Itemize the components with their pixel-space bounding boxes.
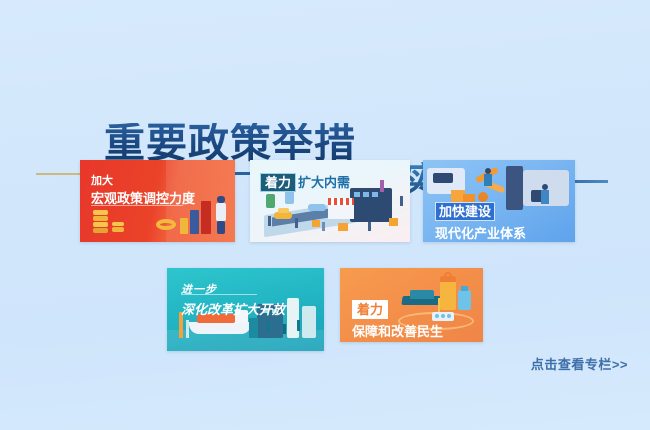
card-peoples-livelihood-line2: 保障和改善民生 xyxy=(352,324,443,339)
card-macro-policy-text: 加大 宏观政策调控力度 xyxy=(91,171,195,209)
card-macro-policy[interactable]: 加大 宏观政策调控力度 xyxy=(80,160,235,242)
card-macro-policy-line1: 加大 xyxy=(91,175,113,187)
card-reform-opening-line2: 深化改革扩大开放 xyxy=(181,302,285,317)
card-expand-demand[interactable]: 着力扩大内需 xyxy=(250,160,410,242)
page-title-line1: 重要政策举措 xyxy=(104,123,356,164)
card-peoples-livelihood-text: 着力 保障和改善民生 xyxy=(352,300,443,342)
card-expand-demand-line1: 着力 xyxy=(260,173,296,192)
card-modern-industry-line1: 加快建设 xyxy=(435,202,495,221)
card-reform-opening-text: 进一步 深化改革扩大开放 xyxy=(181,280,285,320)
card-modern-industry[interactable]: 加快建设 现代化产业体系 xyxy=(423,160,575,242)
card-peoples-livelihood-line1: 着力 xyxy=(352,300,388,319)
card-expand-demand-text: 着力扩大内需 xyxy=(260,173,350,193)
card-modern-industry-text: 加快建设 现代化产业体系 xyxy=(435,202,526,242)
card-modern-industry-line2: 现代化产业体系 xyxy=(435,226,526,241)
view-column-link[interactable]: 点击查看专栏>> xyxy=(531,354,628,373)
card-peoples-livelihood[interactable]: 着力 保障和改善民生 xyxy=(340,268,483,342)
card-expand-demand-line2: 扩大内需 xyxy=(298,175,350,190)
card-reform-opening-line1: 进一步 xyxy=(181,284,217,296)
banner-root: 重要政策举措 及实施效果 加大 宏观政策调控力度 xyxy=(0,0,650,430)
card-reform-opening[interactable]: 进一步 深化改革扩大开放 xyxy=(167,268,324,351)
card-macro-policy-line2: 宏观政策调控力度 xyxy=(91,191,195,206)
title-block: 重要政策举措 及实施效果 xyxy=(0,60,650,140)
